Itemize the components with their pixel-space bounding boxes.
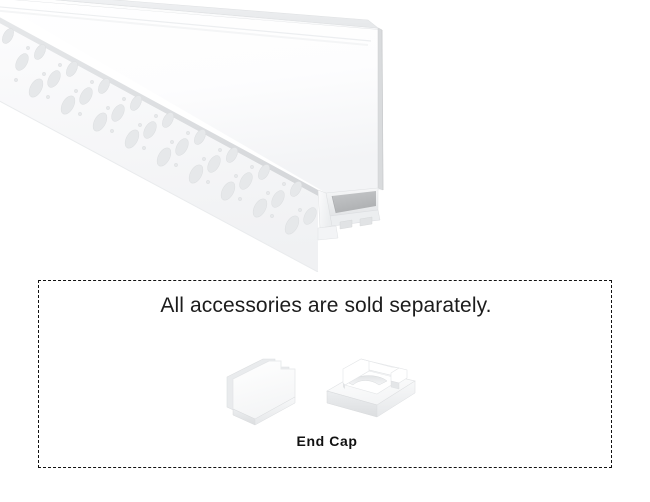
product-illustration (0, 0, 650, 272)
end-cap-pair-icon (219, 347, 435, 431)
open-end-cap-with-cable-slot (327, 359, 415, 417)
accessories-panel: All accessories are sold separately. (38, 280, 612, 468)
led-profile-render (0, 0, 650, 272)
product-image-canvas: All accessories are sold separately. (0, 0, 650, 502)
profile-end-cross-section (318, 188, 380, 240)
accessory-item-end-cap: End Cap (219, 347, 435, 459)
end-cap-illustration (219, 347, 435, 431)
solid-end-cap (227, 359, 295, 425)
accessory-caption-end-cap: End Cap (219, 433, 435, 449)
accessories-note: All accessories are sold separately. (39, 293, 613, 319)
